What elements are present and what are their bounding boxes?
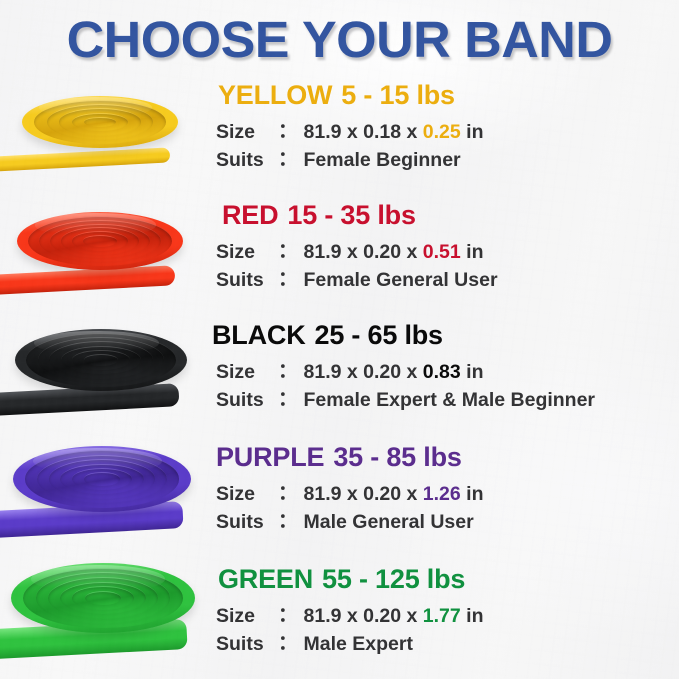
- size-colon: ：: [278, 357, 304, 385]
- band-info: GREEN55 - 125 lbsSize：81.9 x 0.20 x 1.77…: [216, 558, 484, 678]
- band-suits-line: Suits：Female General User: [216, 266, 498, 294]
- size-thickness: 0.25: [423, 121, 461, 143]
- band-specs: Size：81.9 x 0.20 x 1.77 inSuits：Male Exp…: [216, 602, 484, 659]
- band-coil-ring: [84, 117, 115, 127]
- band-info: PURPLE35 - 85 lbsSize：81.9 x 0.20 x 1.26…: [216, 438, 484, 558]
- band-coil-ring: [83, 235, 116, 247]
- band-photo-red: [0, 198, 208, 318]
- size-separator: x: [341, 361, 363, 383]
- size-value: 81.9 x 0.20 x 1.26 in: [304, 480, 484, 508]
- size-separator: x: [401, 605, 423, 627]
- size-colon: ：: [278, 601, 304, 629]
- band-row: BLACK25 - 65 lbsSize：81.9 x 0.20 x 0.83 …: [0, 318, 679, 438]
- size-unit-label: in: [466, 121, 483, 143]
- band-heading: GREEN55 - 125 lbs: [218, 566, 484, 593]
- size-value: 81.9 x 0.20 x 1.77 in: [304, 602, 484, 630]
- size-width: 0.20: [363, 361, 401, 383]
- band-info: RED15 - 35 lbsSize：81.9 x 0.20 x 0.51 in…: [216, 198, 498, 318]
- band-photo-purple: [0, 438, 208, 558]
- size-unit-label: in: [466, 605, 483, 627]
- suits-label: Suits: [216, 266, 278, 294]
- suits-value: Female General User: [304, 266, 498, 294]
- suits-value: Male Expert: [304, 630, 413, 658]
- band-heading: YELLOW5 - 15 lbs: [218, 82, 484, 109]
- band-info: YELLOW5 - 15 lbsSize：81.9 x 0.18 x 0.25 …: [216, 78, 484, 198]
- size-separator: x: [401, 361, 423, 383]
- band-specs: Size：81.9 x 0.20 x 0.51 inSuits：Female G…: [216, 238, 498, 295]
- size-width: 0.20: [363, 605, 401, 627]
- band-suits-line: Suits：Female Expert & Male Beginner: [216, 386, 595, 414]
- suits-label: Suits: [216, 508, 278, 536]
- size-unit-label: in: [466, 241, 483, 263]
- size-width: 0.20: [363, 483, 401, 505]
- size-thickness: 1.77: [423, 605, 461, 627]
- size-width: 0.20: [363, 241, 401, 263]
- suits-colon: ：: [278, 507, 304, 535]
- suits-colon: ：: [278, 629, 304, 657]
- band-photo-yellow: [0, 78, 208, 198]
- band-photo-green: [0, 558, 208, 678]
- size-label: Size: [216, 480, 278, 508]
- band-heading: RED15 - 35 lbs: [222, 202, 498, 229]
- size-value: 81.9 x 0.20 x 0.83 in: [304, 358, 484, 386]
- size-label: Size: [216, 602, 278, 630]
- size-separator: x: [401, 483, 423, 505]
- band-photo-black: [0, 318, 208, 438]
- band-weight-range: 5 - 15 lbs: [341, 80, 455, 110]
- band-color-name: PURPLE: [216, 442, 324, 472]
- size-unit-label: in: [466, 361, 483, 383]
- size-thickness: 0.51: [423, 241, 461, 263]
- size-length: 81.9: [304, 605, 342, 627]
- band-color-name: YELLOW: [218, 80, 332, 110]
- band-weight-range: 15 - 35 lbs: [287, 200, 415, 230]
- band-suits-line: Suits：Male General User: [216, 508, 484, 536]
- band-info: BLACK25 - 65 lbsSize：81.9 x 0.20 x 0.83 …: [216, 318, 595, 438]
- band-coil-ring: [84, 472, 120, 485]
- band-size-line: Size：81.9 x 0.20 x 0.83 in: [216, 358, 595, 386]
- size-length: 81.9: [304, 361, 342, 383]
- suits-value: Female Beginner: [304, 146, 461, 174]
- band-color-name: BLACK: [212, 320, 306, 350]
- suits-label: Suits: [216, 630, 278, 658]
- band-row: GREEN55 - 125 lbsSize：81.9 x 0.20 x 1.77…: [0, 558, 679, 678]
- size-length: 81.9: [304, 483, 342, 505]
- band-size-line: Size：81.9 x 0.20 x 1.26 in: [216, 480, 484, 508]
- size-separator: x: [341, 241, 363, 263]
- page-title: CHOOSE YOUR BAND: [0, 8, 679, 70]
- suits-value: Male General User: [304, 508, 474, 536]
- size-unit-label: in: [466, 483, 483, 505]
- band-suits-line: Suits：Female Beginner: [216, 146, 484, 174]
- size-label: Size: [216, 238, 278, 266]
- size-label: Size: [216, 118, 278, 146]
- band-weight-range: 25 - 65 lbs: [315, 320, 443, 350]
- size-value: 81.9 x 0.20 x 0.51 in: [304, 238, 484, 266]
- band-heading: BLACK25 - 65 lbs: [212, 322, 595, 349]
- band-specs: Size：81.9 x 0.18 x 0.25 inSuits：Female B…: [216, 118, 484, 175]
- size-colon: ：: [278, 117, 304, 145]
- suits-colon: ：: [278, 145, 304, 173]
- size-length: 81.9: [304, 241, 342, 263]
- band-size-line: Size：81.9 x 0.20 x 1.77 in: [216, 602, 484, 630]
- band-row: YELLOW5 - 15 lbsSize：81.9 x 0.18 x 0.25 …: [0, 78, 679, 198]
- size-value: 81.9 x 0.18 x 0.25 in: [304, 118, 484, 146]
- band-suits-line: Suits：Male Expert: [216, 630, 484, 658]
- size-colon: ：: [278, 237, 304, 265]
- suits-colon: ：: [278, 265, 304, 293]
- size-separator: x: [341, 483, 363, 505]
- size-colon: ：: [278, 479, 304, 507]
- band-tail: [0, 147, 170, 171]
- band-row: RED15 - 35 lbsSize：81.9 x 0.20 x 0.51 in…: [0, 198, 679, 318]
- size-separator: x: [401, 241, 423, 263]
- band-coil-ring: [85, 591, 122, 605]
- size-label: Size: [216, 358, 278, 386]
- size-separator: x: [341, 121, 363, 143]
- suits-label: Suits: [216, 146, 278, 174]
- band-row: PURPLE35 - 85 lbsSize：81.9 x 0.20 x 1.26…: [0, 438, 679, 558]
- band-color-name: RED: [222, 200, 278, 230]
- band-heading: PURPLE35 - 85 lbs: [216, 444, 484, 471]
- size-width: 0.18: [363, 121, 401, 143]
- size-separator: x: [341, 605, 363, 627]
- suits-colon: ：: [278, 385, 304, 413]
- band-specs: Size：81.9 x 0.20 x 1.26 inSuits：Male Gen…: [216, 480, 484, 537]
- band-specs: Size：81.9 x 0.20 x 0.83 inSuits：Female E…: [216, 358, 595, 415]
- band-weight-range: 35 - 85 lbs: [333, 442, 461, 472]
- band-size-line: Size：81.9 x 0.20 x 0.51 in: [216, 238, 498, 266]
- band-color-name: GREEN: [218, 564, 313, 594]
- size-separator: x: [401, 121, 423, 143]
- suits-value: Female Expert & Male Beginner: [304, 386, 596, 414]
- size-length: 81.9: [304, 121, 342, 143]
- band-size-line: Size：81.9 x 0.18 x 0.25 in: [216, 118, 484, 146]
- size-thickness: 0.83: [423, 361, 461, 383]
- size-thickness: 1.26: [423, 483, 461, 505]
- band-weight-range: 55 - 125 lbs: [322, 564, 465, 594]
- infographic-page: CHOOSE YOUR BAND YELLOW5 - 15 lbsSize：81…: [0, 0, 679, 679]
- suits-label: Suits: [216, 386, 278, 414]
